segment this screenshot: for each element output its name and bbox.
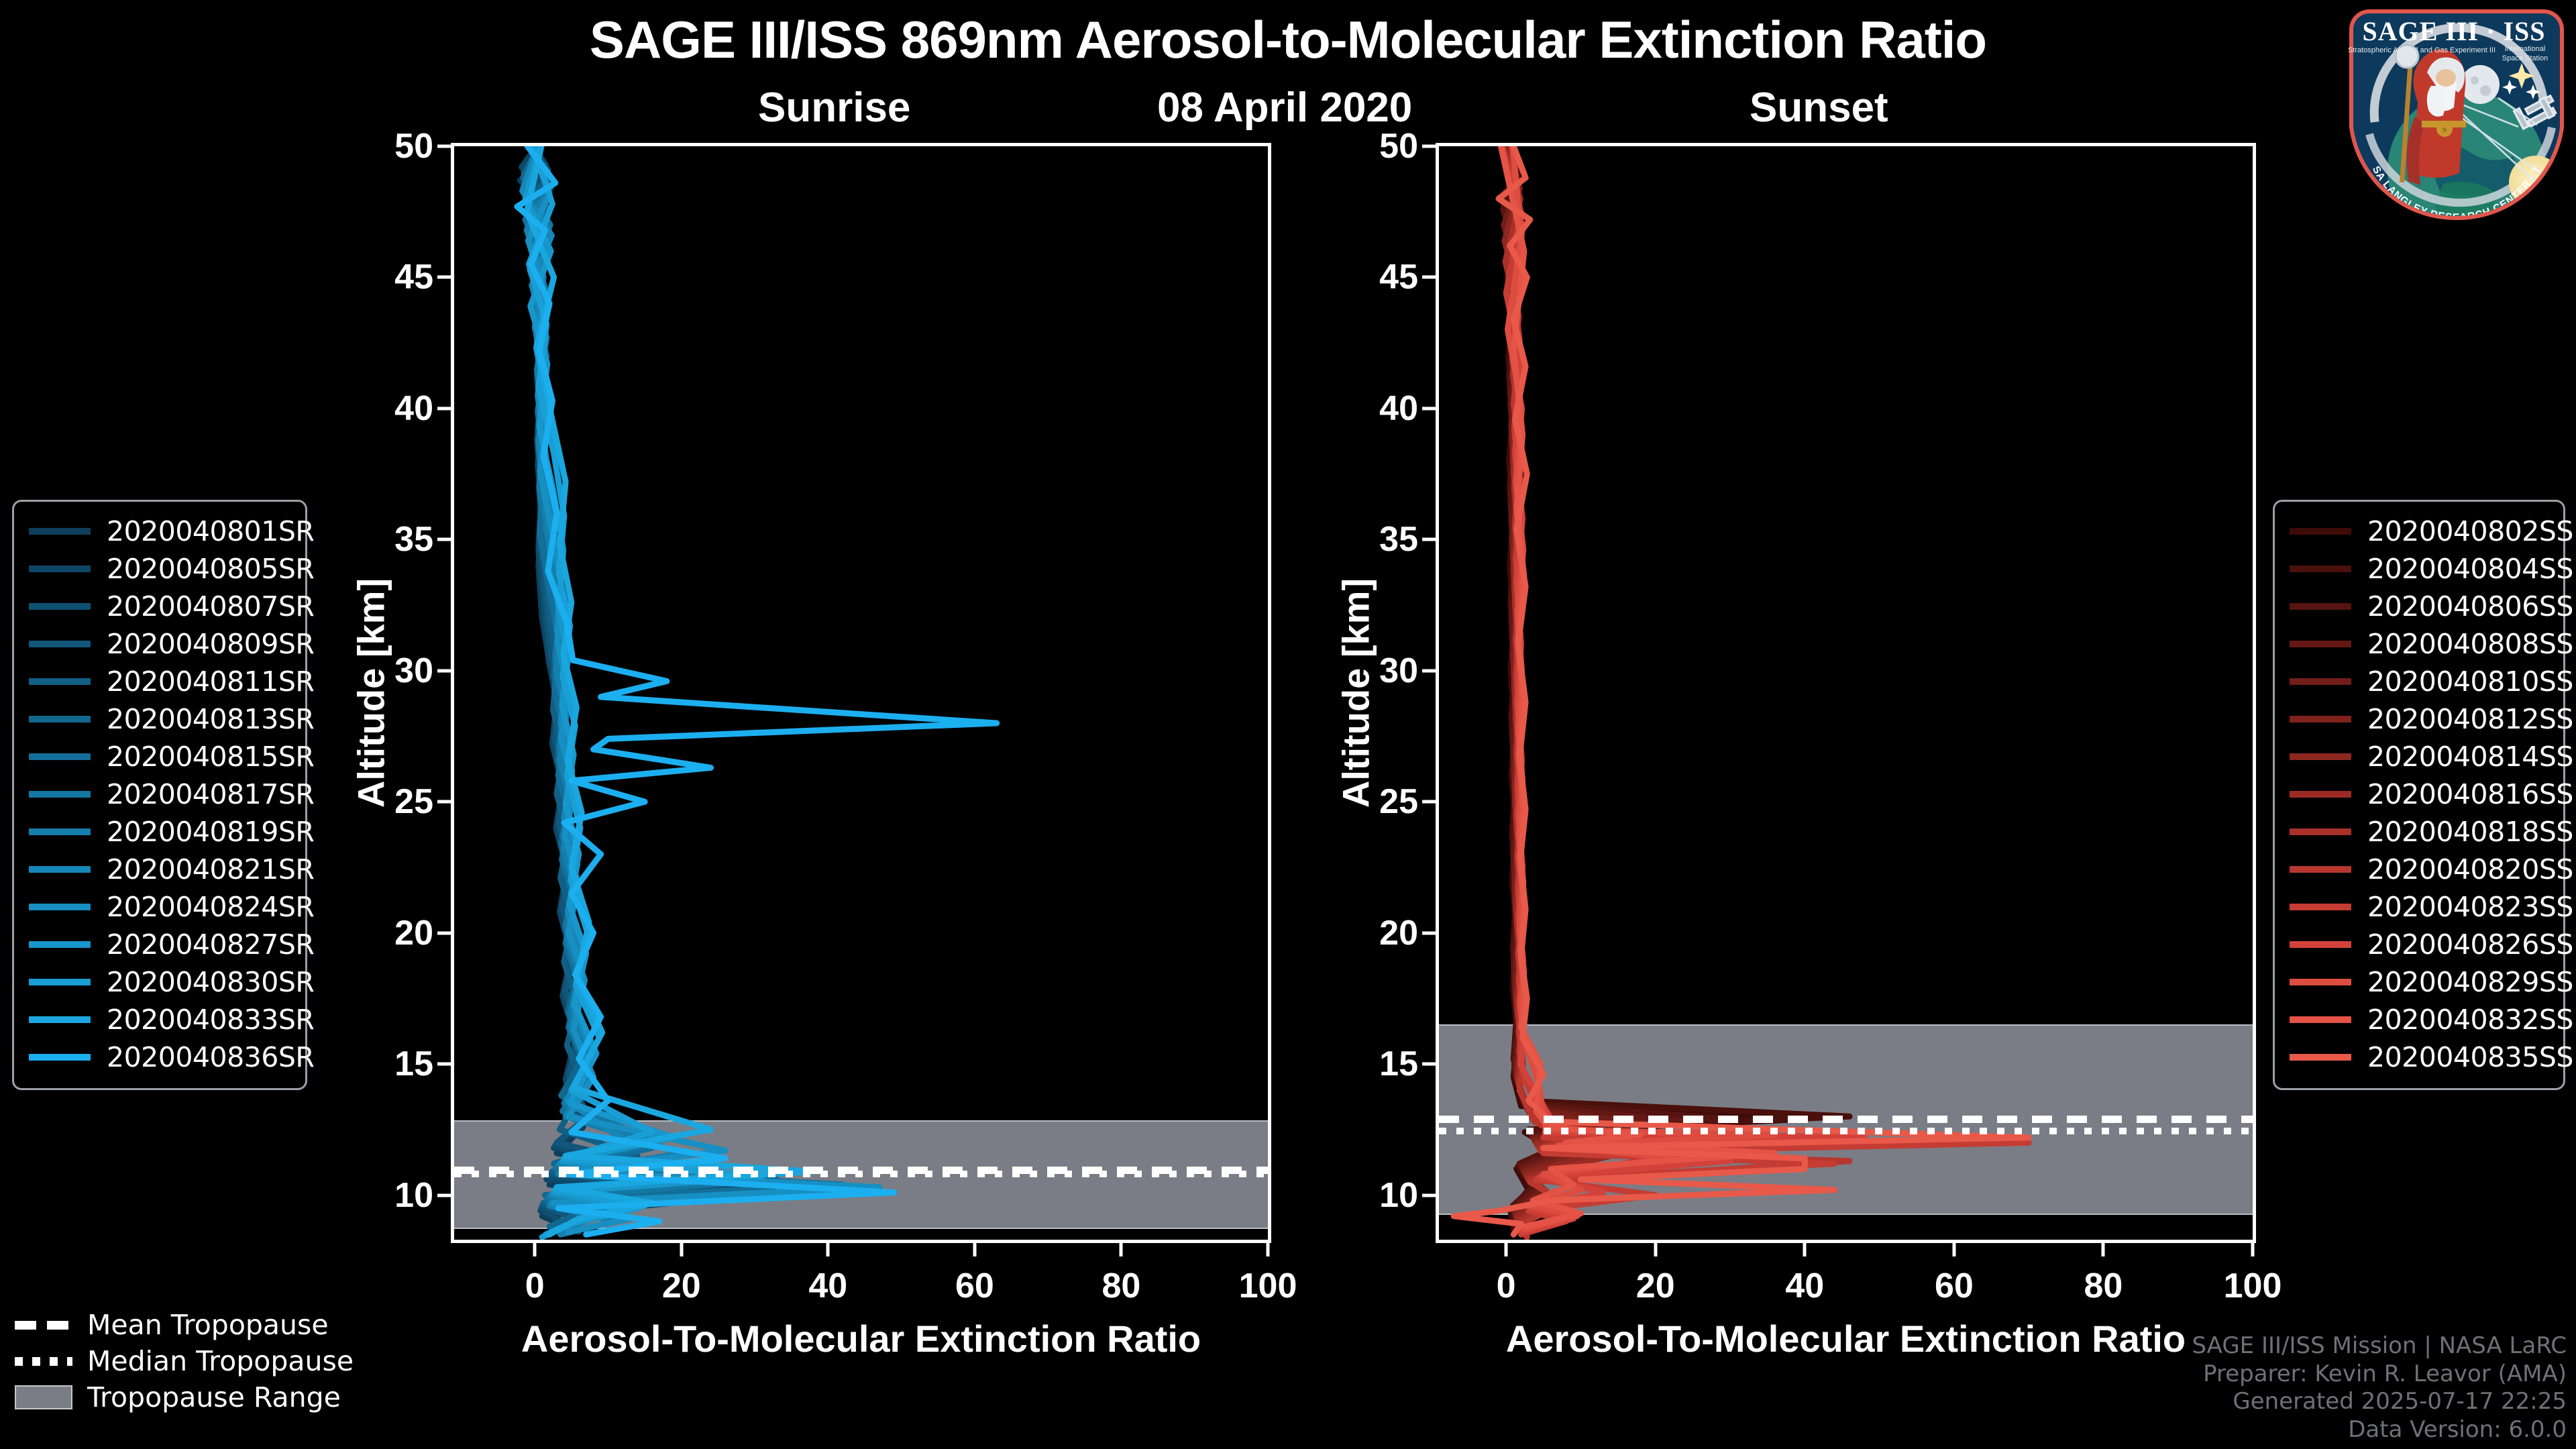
legend-item-2020040805SR[interactable]: 2020040805SR: [29, 550, 290, 588]
legend-color-swatch: [29, 904, 91, 910]
legend-item-2020040816SS[interactable]: 2020040816SS: [2290, 775, 2548, 813]
legend-item-2020040809SR[interactable]: 2020040809SR: [29, 625, 290, 663]
legend-color-swatch: [29, 641, 91, 647]
y-tick-label: 10: [1379, 1175, 1418, 1216]
legend-item-label: 2020040827SR: [91, 928, 314, 961]
credits-block: SAGE III/ISS Mission | NASA LaRC Prepare…: [2192, 1332, 2567, 1444]
y-tick-label: 20: [394, 913, 433, 953]
legend-item-label: 2020040819SR: [91, 816, 314, 848]
svg-text:Space Station: Space Station: [2502, 54, 2548, 62]
legend-color-swatch: [2290, 1016, 2351, 1023]
legend-item-label: 2020040801SR: [91, 515, 314, 547]
y-tick-mark: [1422, 800, 1436, 804]
credits-line-version: Data Version: 6.0.0: [2192, 1416, 2567, 1444]
legend-item-2020040832SS[interactable]: 2020040832SS: [2290, 1001, 2548, 1038]
sunset-plot-area: [1439, 146, 2253, 1240]
sunset-plot-panel: Altitude [km] Aerosol-To-Molecular Extin…: [1436, 143, 2256, 1243]
y-tick-label: 40: [394, 388, 433, 429]
series-line: [1503, 146, 1850, 1237]
x-tick-mark: [2251, 1243, 2255, 1256]
legend-color-swatch: [2290, 1054, 2351, 1061]
legend-item-label: 2020040812SS: [2351, 703, 2573, 735]
legend-item-label: 2020040814SS: [2351, 741, 2573, 773]
subtitle-row: Sunrise 08 April 2020 Sunset: [0, 84, 2576, 131]
date-subtitle: 08 April 2020: [1157, 84, 1412, 131]
y-tick-mark: [1422, 931, 1436, 934]
series-line: [1454, 146, 2029, 1234]
x-tick-label: 80: [2084, 1266, 2123, 1306]
sage-iii-iss-mission-patch-logo: S BALL · NASA LANGLEY RESEARCH CENTER · …: [2343, 3, 2571, 224]
legend-item-2020040817SR[interactable]: 2020040817SR: [29, 775, 290, 813]
legend-item-label: 2020040809SR: [91, 628, 314, 660]
legend-item-2020040835SS[interactable]: 2020040835SS: [2290, 1038, 2548, 1076]
y-tick-label: 20: [1379, 913, 1418, 953]
legend-color-swatch: [2290, 603, 2351, 610]
legend-item-2020040819SR[interactable]: 2020040819SR: [29, 813, 290, 851]
x-tick-label: 80: [1102, 1266, 1141, 1306]
legend-item-2020040826SS[interactable]: 2020040826SS: [2290, 926, 2548, 963]
median-tropopause-label: Median Tropopause: [87, 1345, 354, 1377]
y-tick-label: 45: [394, 257, 433, 297]
y-tick-mark: [437, 145, 451, 148]
legend-item-2020040814SS[interactable]: 2020040814SS: [2290, 738, 2548, 775]
legend-item-2020040823SS[interactable]: 2020040823SS: [2290, 888, 2548, 926]
legend-color-swatch: [29, 979, 91, 985]
sunrise-plot-box[interactable]: [451, 143, 1271, 1243]
y-tick-label: 10: [394, 1175, 433, 1216]
legend-item-2020040830SR[interactable]: 2020040830SR: [29, 963, 290, 1001]
sunset-plot-box[interactable]: [1436, 143, 2256, 1243]
y-tick-mark: [437, 800, 451, 804]
legend-color-swatch: [2290, 866, 2351, 873]
y-tick-mark: [1422, 276, 1436, 279]
series-line: [1502, 146, 1865, 1232]
x-tick-label: 40: [808, 1266, 847, 1306]
y-tick-label: 25: [394, 782, 433, 822]
sunset-x-axis-label: Aerosol-To-Molecular Extinction Ratio: [1506, 1317, 2186, 1360]
legend-item-2020040804SS[interactable]: 2020040804SS: [2290, 550, 2548, 588]
legend-item-label: 2020040810SS: [2351, 665, 2573, 698]
page-title: SAGE III/ISS 869nm Aerosol-to-Molecular …: [0, 9, 2576, 70]
series-line: [1506, 146, 2029, 1234]
sunrise-subtitle: Sunrise: [758, 84, 910, 131]
x-tick-mark: [533, 1243, 537, 1256]
y-tick-label: 15: [1379, 1044, 1418, 1084]
series-line: [1502, 146, 1805, 1229]
legend-item-label: 2020040823SS: [2351, 891, 2573, 923]
legend-color-swatch: [2290, 979, 2351, 985]
legend-color-swatch: [29, 1016, 91, 1023]
legend-item-label: 2020040804SS: [2351, 553, 2573, 585]
y-tick-label: 45: [1379, 257, 1418, 297]
legend-item-2020040820SS[interactable]: 2020040820SS: [2290, 851, 2548, 888]
series-line: [1507, 146, 1774, 1229]
x-tick-mark: [973, 1243, 976, 1256]
y-tick-mark: [437, 538, 451, 541]
series-line: [1501, 146, 1774, 1227]
credits-line-mission: SAGE III/ISS Mission | NASA LaRC: [2192, 1332, 2567, 1360]
x-tick-mark: [680, 1243, 683, 1256]
sunset-series-legend[interactable]: 2020040802SS2020040804SS2020040806SS2020…: [2273, 500, 2565, 1090]
legend-item-label: 2020040806SS: [2351, 590, 2573, 623]
legend-color-swatch: [29, 716, 91, 722]
x-tick-mark: [1803, 1243, 1807, 1256]
tropopause-range-label: Tropopause Range: [87, 1381, 341, 1413]
legend-item-2020040815SR[interactable]: 2020040815SR: [29, 738, 290, 775]
y-tick-mark: [1422, 407, 1436, 410]
legend-item-label: 2020040829SS: [2351, 966, 2573, 998]
legend-item-label: 2020040802SS: [2351, 515, 2573, 547]
legend-color-swatch: [29, 566, 91, 572]
legend-item-2020040802SS[interactable]: 2020040802SS: [2290, 513, 2548, 550]
legend-color-swatch: [2290, 678, 2351, 685]
legend-item-2020040807SR[interactable]: 2020040807SR: [29, 588, 290, 625]
legend-item-2020040806SS[interactable]: 2020040806SS: [2290, 588, 2548, 625]
mean-tropopause-label: Mean Tropopause: [87, 1309, 329, 1341]
dashed-line-icon: [15, 1321, 72, 1330]
legend-color-swatch: [29, 828, 91, 835]
series-line: [1505, 146, 1656, 1234]
sunrise-y-axis-label: Altitude [km]: [350, 578, 393, 808]
series-line: [517, 146, 997, 1234]
y-tick-mark: [437, 276, 451, 279]
x-tick-mark: [1267, 1243, 1270, 1256]
legend-item-label: 2020040820SS: [2351, 853, 2573, 885]
y-tick-label: 40: [1379, 388, 1418, 429]
legend-item-label: 2020040807SR: [91, 590, 314, 623]
x-tick-label: 20: [662, 1266, 701, 1306]
filled-band-icon: [15, 1385, 72, 1409]
x-tick-label: 100: [1239, 1266, 1297, 1306]
legend-color-swatch: [2290, 753, 2351, 760]
credits-line-preparer: Preparer: Kevin R. Leavor (AMA): [2192, 1360, 2567, 1388]
legend-color-swatch: [29, 603, 91, 610]
legend-item-2020040829SS[interactable]: 2020040829SS: [2290, 963, 2548, 1001]
y-tick-label: 35: [394, 519, 433, 559]
y-tick-label: 50: [1379, 126, 1418, 166]
mean-tropopause-line: [1439, 1116, 2253, 1123]
y-tick-label: 30: [1379, 651, 1418, 691]
tropopause-legend: Mean Tropopause Median Tropopause Tropop…: [15, 1307, 390, 1415]
legend-item-median-tropopause: Median Tropopause: [15, 1343, 390, 1379]
legend-item-2020040813SR[interactable]: 2020040813SR: [29, 700, 290, 738]
sunrise-x-axis-label: Aerosol-To-Molecular Extinction Ratio: [521, 1317, 1201, 1360]
legend-item-2020040801SR[interactable]: 2020040801SR: [29, 513, 290, 550]
legend-item-label: 2020040811SR: [91, 665, 314, 698]
y-tick-label: 15: [394, 1044, 433, 1084]
x-tick-label: 60: [1935, 1266, 1974, 1306]
legend-color-swatch: [29, 791, 91, 798]
x-tick-mark: [1654, 1243, 1657, 1256]
legend-item-label: 2020040805SR: [91, 553, 314, 585]
median-tropopause-line: [454, 1171, 1268, 1177]
legend-item-label: 2020040832SS: [2351, 1004, 2573, 1036]
series-line: [1504, 146, 1849, 1227]
sunrise-plot-area: [454, 146, 1268, 1240]
y-tick-mark: [437, 1193, 451, 1197]
y-tick-label: 50: [394, 126, 433, 166]
legend-color-swatch: [2290, 716, 2351, 722]
legend-color-swatch: [29, 753, 91, 760]
legend-item-label: 2020040826SS: [2351, 928, 2573, 961]
legend-item-label: 2020040815SR: [91, 741, 314, 773]
legend-item-label: 2020040808SS: [2351, 628, 2573, 660]
x-tick-mark: [2102, 1243, 2105, 1256]
y-tick-label: 30: [394, 651, 433, 691]
legend-color-swatch: [2290, 641, 2351, 647]
legend-color-swatch: [2290, 904, 2351, 910]
legend-item-2020040836SR[interactable]: 2020040836SR: [29, 1038, 290, 1076]
legend-item-label: 2020040836SR: [91, 1041, 314, 1073]
y-tick-mark: [1422, 1193, 1436, 1197]
series-lines: [1439, 146, 2253, 1240]
legend-item-tropopause-range: Tropopause Range: [15, 1379, 390, 1415]
legend-color-swatch: [29, 1054, 91, 1061]
x-tick-label: 0: [525, 1266, 545, 1306]
legend-item-2020040824SR[interactable]: 2020040824SR: [29, 888, 290, 926]
y-tick-mark: [437, 669, 451, 672]
y-tick-mark: [1422, 1063, 1436, 1066]
legend-item-label: 2020040830SR: [91, 966, 314, 998]
legend-color-swatch: [2290, 828, 2351, 835]
legend-item-label: 2020040824SR: [91, 891, 314, 923]
svg-text:Stratospheric Aerosol and Gas: Stratospheric Aerosol and Gas Experiment…: [2348, 46, 2495, 54]
legend-color-swatch: [2290, 791, 2351, 798]
legend-item-label: 2020040821SR: [91, 853, 314, 885]
sunrise-plot-panel: Altitude [km] Aerosol-To-Molecular Extin…: [451, 143, 1271, 1243]
sunset-subtitle: Sunset: [1750, 84, 1888, 131]
x-tick-mark: [1505, 1243, 1508, 1256]
sunrise-series-legend[interactable]: 2020040801SR2020040805SR2020040807SR2020…: [12, 500, 307, 1090]
svg-text:International: International: [2505, 45, 2546, 53]
legend-color-swatch: [29, 866, 91, 873]
legend-color-swatch: [2290, 566, 2351, 572]
y-tick-mark: [1422, 145, 1436, 148]
y-tick-mark: [1422, 669, 1436, 672]
y-tick-label: 35: [1379, 519, 1418, 559]
legend-item-2020040821SR[interactable]: 2020040821SR: [29, 851, 290, 888]
legend-color-swatch: [2290, 941, 2351, 948]
legend-color-swatch: [29, 528, 91, 535]
sunset-y-axis-label: Altitude [km]: [1334, 578, 1378, 808]
legend-color-swatch: [29, 678, 91, 685]
legend-item-label: 2020040818SS: [2351, 816, 2573, 848]
credits-line-generated: Generated 2025-07-17 22:25: [2192, 1388, 2567, 1415]
legend-item-label: 2020040833SR: [91, 1004, 314, 1036]
legend-item-2020040811SR[interactable]: 2020040811SR: [29, 663, 290, 700]
legend-color-swatch: [2290, 528, 2351, 535]
legend-item-2020040818SS[interactable]: 2020040818SS: [2290, 813, 2548, 851]
y-tick-mark: [437, 931, 451, 934]
svg-text:SAGE III · ISS: SAGE III · ISS: [2362, 16, 2545, 46]
x-tick-label: 40: [1785, 1266, 1824, 1306]
y-tick-label: 25: [1379, 782, 1418, 822]
legend-item-label: 2020040816SS: [2351, 778, 2573, 810]
series-lines: [454, 146, 1268, 1240]
legend-item-mean-tropopause: Mean Tropopause: [15, 1307, 390, 1343]
x-tick-mark: [826, 1243, 830, 1256]
y-tick-mark: [437, 407, 451, 410]
y-tick-mark: [437, 1063, 451, 1066]
legend-item-label: 2020040813SR: [91, 703, 314, 735]
y-tick-mark: [1422, 538, 1436, 541]
x-tick-label: 60: [955, 1266, 994, 1306]
median-tropopause-line: [1439, 1128, 2253, 1134]
dotted-line-icon: [15, 1357, 72, 1366]
legend-item-label: 2020040817SR: [91, 778, 314, 810]
x-tick-label: 20: [1636, 1266, 1675, 1306]
series-line: [525, 146, 762, 1237]
x-tick-label: 0: [1497, 1266, 1516, 1306]
legend-item-2020040810SS[interactable]: 2020040810SS: [2290, 663, 2548, 700]
legend-item-2020040812SS[interactable]: 2020040812SS: [2290, 700, 2548, 738]
x-tick-label: 100: [2224, 1266, 2282, 1306]
legend-item-2020040827SR[interactable]: 2020040827SR: [29, 926, 290, 963]
legend-item-2020040833SR[interactable]: 2020040833SR: [29, 1001, 290, 1038]
x-tick-mark: [1120, 1243, 1123, 1256]
legend-color-swatch: [29, 941, 91, 948]
x-tick-mark: [1952, 1243, 1955, 1256]
legend-item-label: 2020040835SS: [2351, 1041, 2573, 1073]
legend-item-2020040808SS[interactable]: 2020040808SS: [2290, 625, 2548, 663]
